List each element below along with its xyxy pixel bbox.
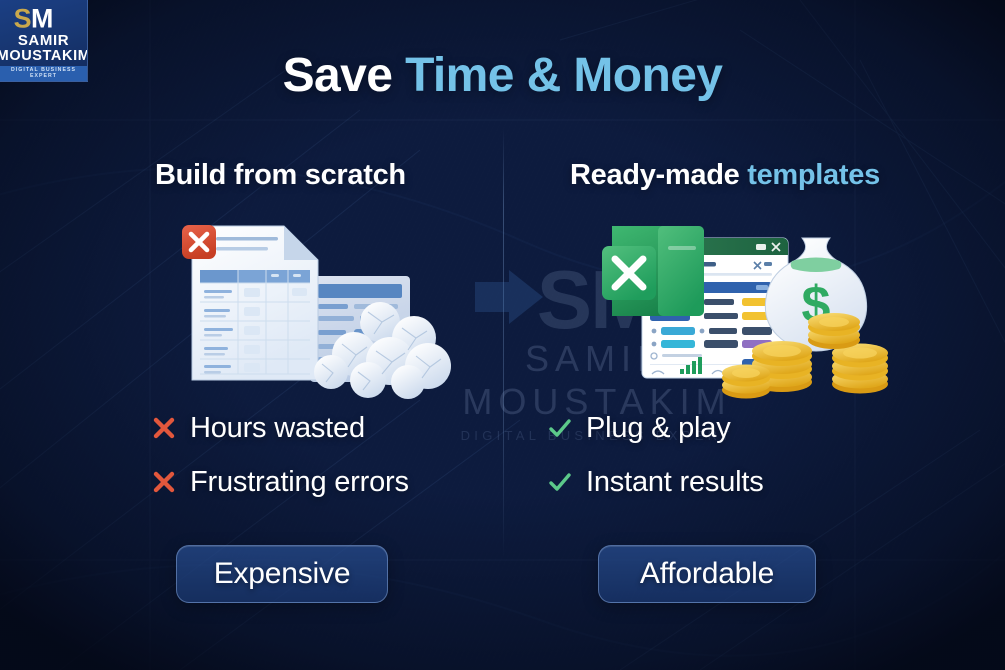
error-badge-icon (182, 225, 216, 259)
bullet-item: Frustrating errors (152, 460, 409, 504)
pill-expensive[interactable]: Expensive (176, 545, 388, 603)
column-heading-left: Build from scratch (155, 159, 406, 192)
bullet-label: Plug & play (586, 412, 731, 445)
column-divider (503, 128, 504, 558)
column-heading-right: Ready-made templates (570, 159, 880, 192)
bullet-item: Instant results (548, 460, 764, 504)
page-title: Save Time & Money (0, 48, 1005, 103)
bullet-label: Instant results (586, 466, 764, 499)
bullet-list-right: Plug & play Instant results (548, 406, 764, 514)
logo-monogram-icon: S M (12, 4, 75, 32)
cross-icon (152, 470, 176, 494)
title-part-white: Save (283, 49, 393, 102)
column-heading-right-white: Ready-made (570, 159, 747, 191)
bullet-label: Hours wasted (190, 412, 365, 445)
slide-canvas: SM SAMIR MOUSTAKIM DIGITAL BUSINESS EXPE… (0, 0, 1005, 670)
bullet-item: Plug & play (548, 406, 764, 450)
bullet-label: Frustrating errors (190, 466, 409, 499)
bullet-item: Hours wasted (152, 406, 409, 450)
bullet-list-left: Hours wasted Frustrating errors (152, 406, 409, 514)
illustration-build-from-scratch (168, 214, 458, 399)
column-heading-left-white: Build from scratch (155, 159, 406, 191)
svg-text:M: M (31, 4, 53, 32)
cross-icon (152, 416, 176, 440)
svg-text:S: S (14, 4, 32, 32)
excel-icon (602, 226, 704, 316)
pill-affordable[interactable]: Affordable (598, 545, 816, 603)
title-part-blue: Time & Money (405, 49, 722, 102)
check-icon (548, 416, 572, 440)
check-icon (548, 470, 572, 494)
column-heading-right-blue: templates (747, 159, 880, 191)
logo-name-line1: SAMIR (18, 33, 69, 48)
illustration-ready-made-templates: $ (596, 214, 901, 399)
